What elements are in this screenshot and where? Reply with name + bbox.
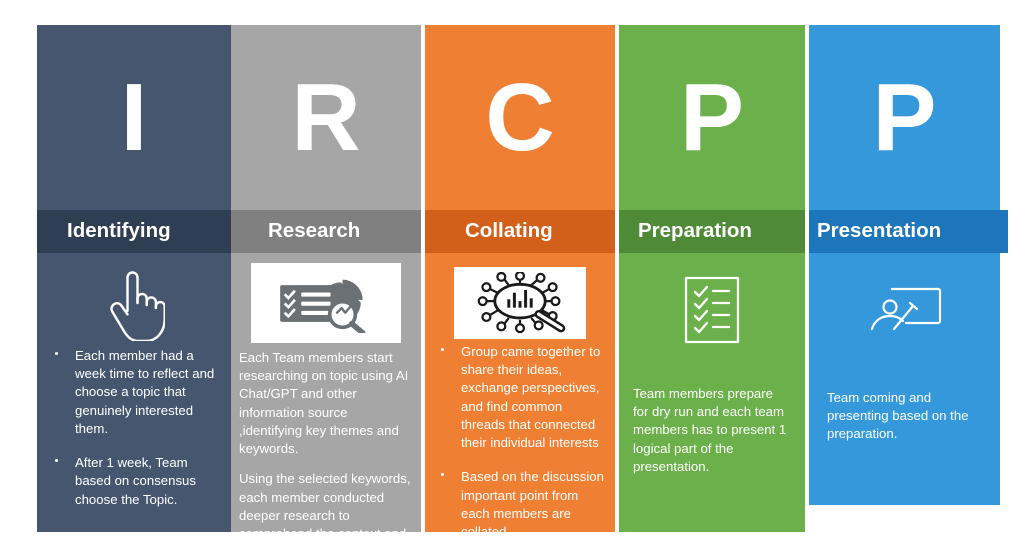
title-collating: Collating [465,221,553,242]
column-preparation: P Preparation Team members [619,25,805,532]
list-item: Each member had a week time to reflect a… [49,347,219,438]
bullet-dot-icon [55,459,58,462]
column-research: R Research [231,25,421,532]
network-analysis-magnifier-icon [454,267,586,339]
bullet-dot-icon [441,473,444,476]
paragraph: Team coming and presenting based on the … [827,389,982,444]
big-letter-p-preparation: P [680,70,744,166]
ircpp-process-infographic: I Identifying Each member had a week tim… [0,0,1023,555]
bullet-list-identifying: Each member had a week time to reflect a… [49,347,219,509]
bullet-text: Group came together to share their ideas… [461,344,600,450]
bullet-text: Each member had a week time to reflect a… [75,348,214,436]
column-presentation: P Presentation Team coming and presentin [809,25,1000,505]
list-item: Based on the discussion important point … [435,468,605,532]
list-item: After 1 week, Team based on consensus ch… [49,454,219,509]
big-letter-i: I [121,70,148,166]
icon-wrap-identifying [103,267,165,341]
bullet-list-collating: Group came together to share their ideas… [435,343,605,532]
checklist-document-icon [683,275,741,345]
research-checklist-chart-magnifier-icon [251,263,401,343]
text-block-identifying: Each member had a week time to reflect a… [49,341,219,509]
icon-wrap-presentation [866,283,944,341]
column-collating: C Collating [425,25,615,532]
letter-zone-preparation: P [619,25,805,210]
bullet-text: After 1 week, Team based on consensus ch… [75,455,196,506]
letter-zone-presentation: P [809,25,1000,210]
big-letter-p-presentation: P [872,70,936,166]
title-band-collating: Collating [425,210,615,253]
letter-zone-research: R [231,25,421,210]
paragraph: Each Team members start researching on t… [239,349,413,458]
text-block-presentation: Team coming and presenting based on the … [827,341,982,444]
bullet-dot-icon [55,352,58,355]
bullet-text: Based on the discussion important point … [461,469,604,532]
title-presentation: Presentation [817,221,941,242]
paragraph: Team members prepare for dry run and eac… [633,385,791,476]
column-identifying: I Identifying Each member had a week tim… [37,25,231,532]
big-letter-c: C [485,70,554,166]
pointing-hand-icon [103,267,165,341]
big-letter-r: R [291,70,360,166]
icon-wrap-collating [454,267,586,339]
body-preparation: Team members prepare for dry run and eac… [619,253,805,532]
text-block-research: Each Team members start researching on t… [239,343,413,532]
title-band-research: Research [231,210,421,253]
body-collating: Group came together to share their ideas… [425,253,615,532]
title-band-preparation: Preparation [619,210,805,253]
paragraph: Using the selected keywords, each member… [239,470,413,532]
bullet-dot-icon [441,348,444,351]
letter-zone-identifying: I [37,25,231,210]
icon-wrap-research [251,263,401,343]
letter-zone-collating: C [425,25,615,210]
title-band-presentation: Presentation [809,210,1008,253]
title-identifying: Identifying [67,221,171,242]
title-research: Research [268,221,360,242]
list-item: Group came together to share their ideas… [435,343,605,452]
title-preparation: Preparation [638,221,752,242]
icon-wrap-preparation [683,275,741,345]
body-research: Each Team members start researching on t… [231,253,421,532]
body-identifying: Each member had a week time to reflect a… [37,253,231,532]
body-presentation: Team coming and presenting based on the … [809,253,1000,505]
title-band-identifying: Identifying [37,210,231,253]
text-block-collating: Group came together to share their ideas… [435,339,605,532]
presenter-whiteboard-icon [866,283,944,341]
text-block-preparation: Team members prepare for dry run and eac… [633,345,791,476]
